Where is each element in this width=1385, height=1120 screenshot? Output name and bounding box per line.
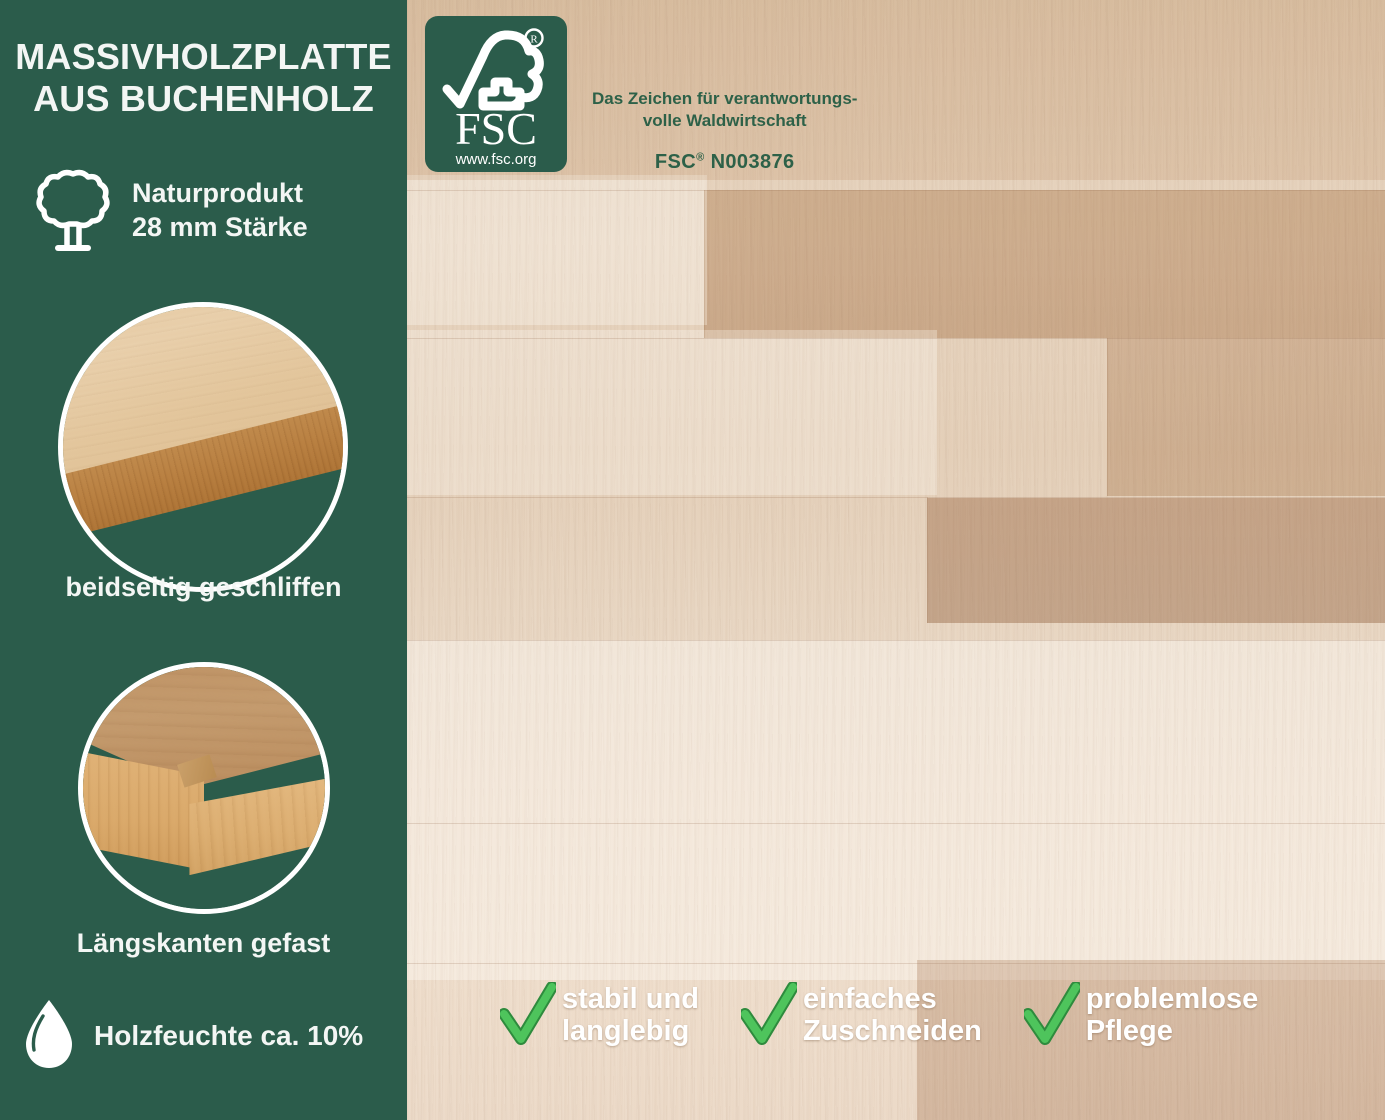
fsc-code-number: N003876 — [711, 151, 795, 173]
benefits-row: stabil und langlebig einfaches Zuschneid… — [500, 982, 1380, 1048]
plank-seam — [407, 338, 1385, 339]
plank-seam — [407, 823, 1385, 824]
page-title: MASSIVHOLZPLATTE AUS BUCHENHOLZ — [0, 36, 407, 121]
wood-plank — [407, 330, 937, 495]
fsc-certification-block: R FSC www.fsc.org Das Zeichen für verant… — [425, 16, 857, 175]
svg-text:R: R — [530, 34, 538, 46]
photo-caption-chamfered: Längskanten gefast — [0, 928, 407, 959]
fsc-logo: R FSC www.fsc.org — [425, 16, 567, 172]
benefit-item: stabil und langlebig — [500, 982, 699, 1048]
photo-background — [83, 667, 325, 909]
check-icon — [741, 982, 797, 1048]
headline-line-2: AUS BUCHENHOLZ — [0, 78, 407, 120]
wood-plank — [1107, 338, 1385, 496]
headline-line-1: MASSIVHOLZPLATTE — [0, 36, 407, 78]
plank-seam — [927, 497, 928, 623]
plank-seam — [407, 963, 1385, 964]
check-icon — [500, 982, 556, 1048]
photo-caption-sanded: beidseitig geschliffen — [0, 572, 407, 603]
fsc-code-prefix: FSC — [655, 151, 696, 173]
benefit-label: stabil und langlebig — [562, 983, 699, 1048]
plank-seam — [407, 640, 1385, 641]
fsc-code-registered-mark: ® — [696, 151, 705, 163]
benefit-label: problemlose Pflege — [1086, 983, 1258, 1048]
benefit-item: einfaches Zuschneiden — [741, 982, 982, 1048]
product-infographic: R FSC www.fsc.org Das Zeichen für verant… — [0, 0, 1385, 1120]
fsc-tagline-line2: volle Waldwirtschaft — [592, 110, 857, 132]
fsc-license-code: FSC® N003876 — [592, 149, 857, 175]
wood-plank — [704, 190, 1385, 338]
plank-seam — [704, 190, 705, 338]
wood-plank — [407, 640, 1385, 980]
benefit-label: einfaches Zuschneiden — [803, 983, 982, 1048]
check-icon — [1024, 982, 1080, 1048]
fsc-tagline-line1: Das Zeichen für verantwortungs- — [592, 88, 857, 110]
feature-wood-moisture-label: Holzfeuchte ca. 10% — [94, 1018, 363, 1053]
feature-natural-product: Naturprodukt 28 mm Stärke — [36, 168, 376, 254]
feature-wood-moisture: Holzfeuchte ca. 10% — [18, 996, 408, 1074]
plank-seam — [407, 497, 1385, 498]
wood-plank — [407, 175, 707, 325]
fsc-tagline-block: Das Zeichen für verantwortungs- volle Wa… — [592, 88, 857, 175]
photo-sanded-edge — [58, 302, 348, 592]
plank-seam — [1107, 338, 1108, 496]
feature-natural-product-label: Naturprodukt 28 mm Stärke — [132, 177, 308, 245]
wood-plank — [927, 498, 1385, 623]
info-sidebar: MASSIVHOLZPLATTE AUS BUCHENHOLZ Naturpro… — [0, 0, 407, 1120]
photo-chamfered-edge — [78, 662, 330, 914]
fsc-url: www.fsc.org — [455, 151, 537, 168]
board-side-face — [189, 773, 330, 875]
tree-icon — [36, 168, 110, 254]
benefit-item: problemlose Pflege — [1024, 982, 1258, 1048]
plank-seam — [407, 190, 1385, 191]
fsc-wordmark: FSC — [455, 103, 537, 154]
water-drop-icon — [18, 996, 80, 1074]
